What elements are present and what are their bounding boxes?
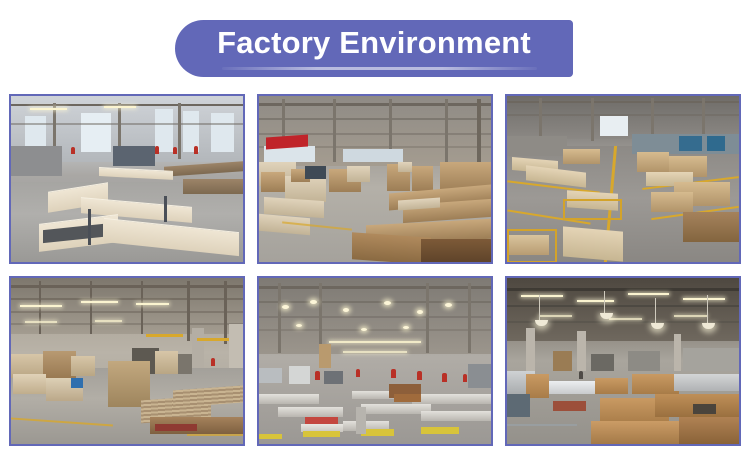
- title-underline: [222, 67, 537, 70]
- gallery-photo-5[interactable]: [257, 276, 493, 446]
- truss-warehouse-image: [11, 278, 243, 444]
- gallery-photo-3[interactable]: [505, 94, 741, 264]
- photo-gallery: [9, 94, 741, 446]
- production-hall-image: [259, 278, 491, 444]
- dark-roof-plant-image: [507, 278, 739, 444]
- gallery-photo-6[interactable]: [505, 276, 741, 446]
- timber-warehouse-image: [259, 96, 491, 262]
- banner-row: Factory Environment: [0, 0, 750, 90]
- title-banner: Factory Environment: [175, 20, 573, 77]
- page-title: Factory Environment: [175, 20, 573, 66]
- gallery-photo-1[interactable]: [9, 94, 245, 264]
- gallery-photo-4[interactable]: [9, 276, 245, 446]
- factory-hall-bright-image: [11, 96, 243, 262]
- gallery-photo-2[interactable]: [257, 94, 493, 264]
- factory-aisle-image: [507, 96, 739, 262]
